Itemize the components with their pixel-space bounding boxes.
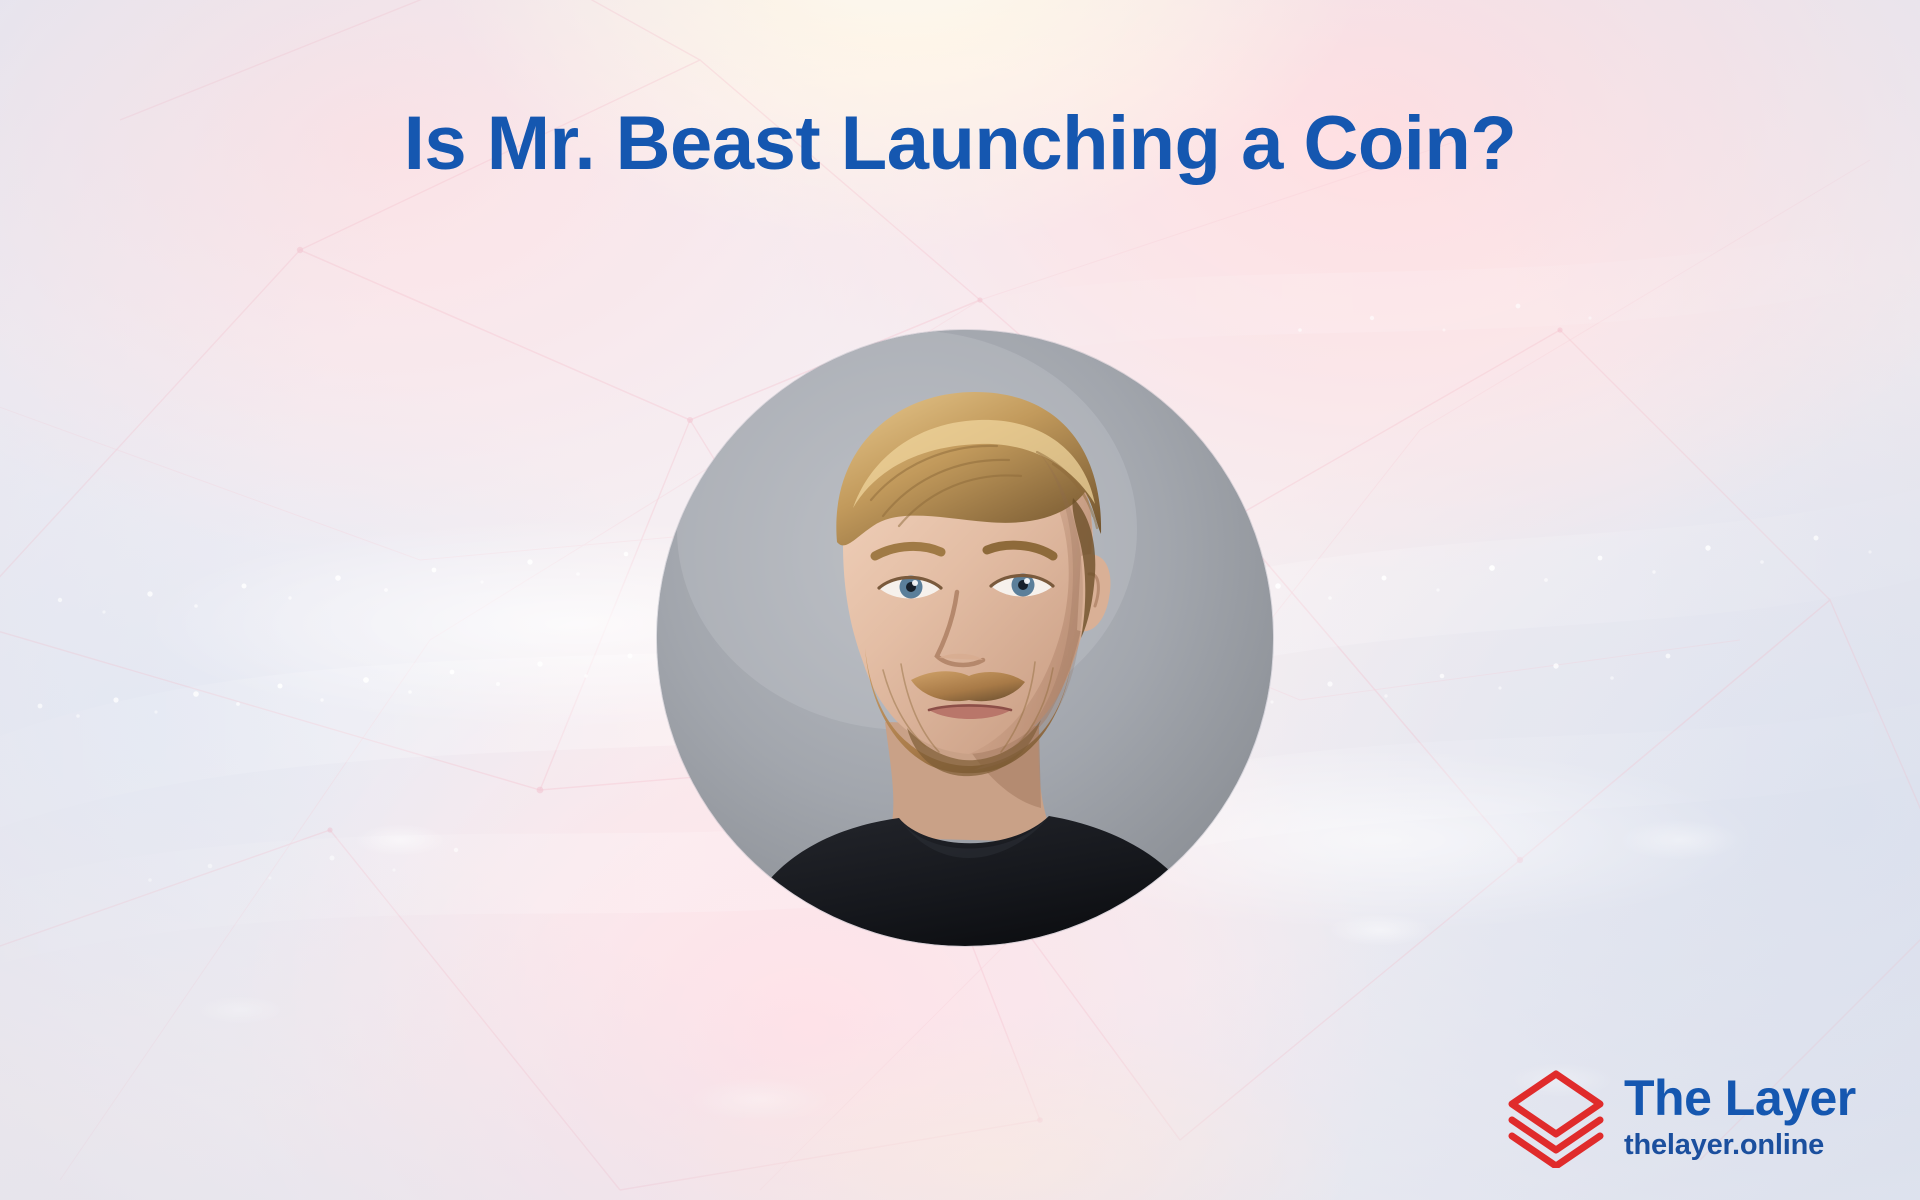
share-card-canvas: Is Mr. Beast Launching a Coin? [0, 0, 1920, 1200]
brand-url: thelayer.online [1624, 1131, 1856, 1160]
avatar [657, 330, 1273, 946]
page-title: Is Mr. Beast Launching a Coin? [0, 104, 1920, 184]
layer-stack-icon [1504, 1064, 1608, 1168]
brand-name: The Layer [1624, 1073, 1856, 1123]
portrait-illustration [657, 330, 1273, 946]
brand-text: The Layer thelayer.online [1624, 1073, 1856, 1160]
brand-logo[interactable]: The Layer thelayer.online [1504, 1056, 1876, 1176]
